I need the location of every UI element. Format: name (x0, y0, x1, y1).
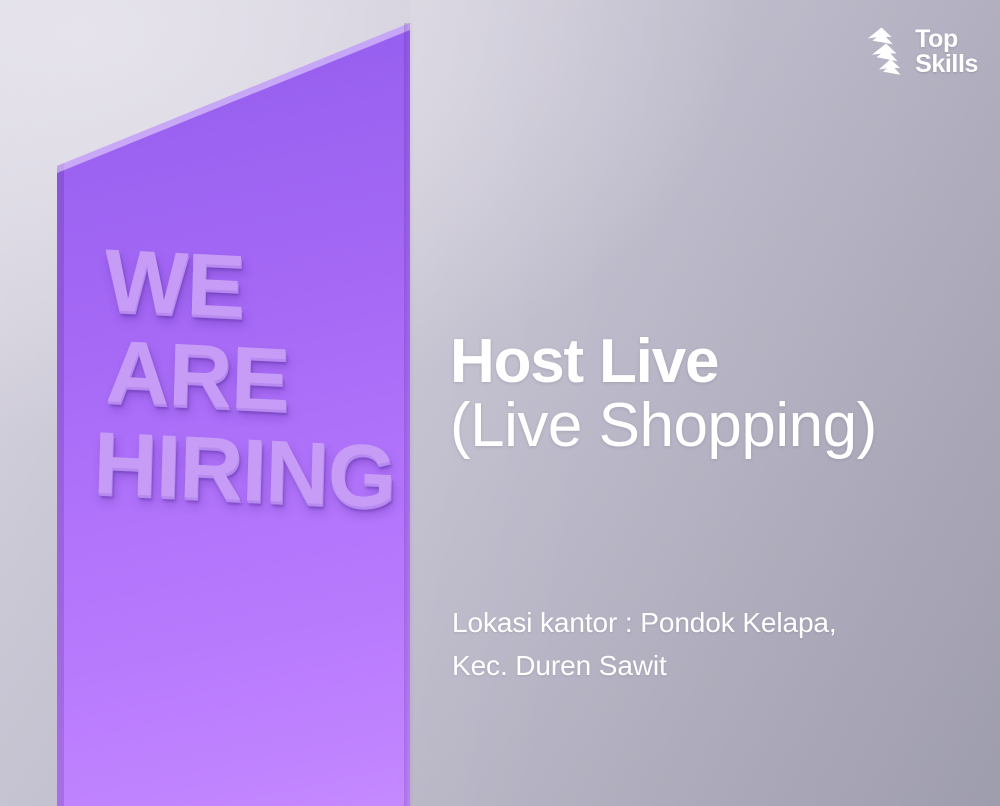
hiring-line-hiring: HIRING (93, 419, 418, 524)
hiring-sign-clip: WE ARE HIRING (50, 0, 418, 806)
hiring-sign-text: WE ARE HIRING (79, 236, 418, 524)
hiring-line-we: WE (104, 237, 418, 342)
brand-logo-line-1: Top (915, 27, 978, 53)
job-title-main: Host Live (450, 330, 990, 393)
job-title-block: Host Live (Live Shopping) (450, 330, 990, 461)
brand-logo-line-2: Skills (915, 52, 978, 78)
office-location-line-1: Lokasi kantor : Pondok Kelapa, (452, 602, 992, 645)
job-vacancy-poster: WE ARE HIRING Host Live (Live Shopping) … (0, 0, 1000, 806)
hiring-line-are: ARE (105, 328, 418, 433)
office-location-block: Lokasi kantor : Pondok Kelapa, Kec. Dure… (452, 602, 992, 687)
job-title-sub: (Live Shopping) (450, 391, 990, 460)
brand-logo-wordmark: Top Skills (915, 27, 978, 78)
office-location-line-2: Kec. Duren Sawit (452, 645, 992, 688)
double-lightning-bolt-icon (860, 26, 906, 78)
brand-logo[interactable]: Top Skills (860, 26, 978, 78)
